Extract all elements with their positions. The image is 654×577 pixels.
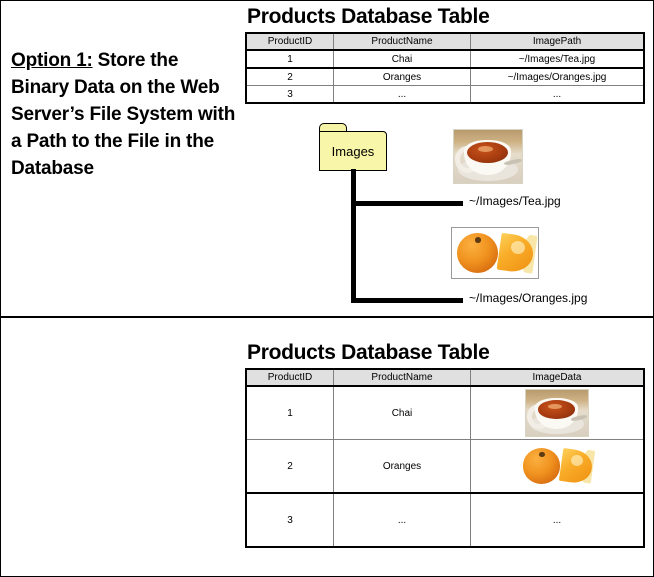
cell-imagedata <box>471 440 645 494</box>
column-header-productname: ProductName <box>334 369 471 386</box>
cell-imagepath: ~/Images/Oranges.jpg <box>471 68 645 86</box>
option2-panel: Products Database Table ProductID Produc… <box>1 316 653 576</box>
cell-productname: Chai <box>334 50 471 68</box>
cell-productname: Oranges <box>334 68 471 86</box>
cell-productid: 2 <box>246 68 334 86</box>
table-header-row: ProductID ProductName ImageData <box>246 369 644 386</box>
option1-table-title: Products Database Table <box>247 5 643 29</box>
teacup-thumbnail <box>453 129 523 184</box>
products-table-imagedata: ProductID ProductName ImageData 1 Chai <box>245 368 645 548</box>
oranges-thumbnail <box>451 227 539 279</box>
file-path-label: ~/Images/Oranges.jpg <box>469 291 587 305</box>
folder-label: Images <box>332 144 375 159</box>
cell-productid: 3 <box>246 493 334 547</box>
diagram-canvas: Option 1: Store the Binary Data on the W… <box>0 0 654 577</box>
cell-imagepath: ... <box>471 86 645 104</box>
option2-table-block: Products Database Table ProductID Produc… <box>245 341 643 548</box>
table-row: 3 ... ... <box>246 86 644 104</box>
tree-trunk-line <box>351 169 356 303</box>
folder-body: Images <box>319 131 387 171</box>
cell-productid: 1 <box>246 50 334 68</box>
oranges-image <box>452 228 538 278</box>
column-header-productname: ProductName <box>334 33 471 50</box>
option1-panel: Option 1: Store the Binary Data on the W… <box>1 1 653 316</box>
table-row: 2 Oranges <box>246 440 644 494</box>
column-header-productid: ProductID <box>246 369 334 386</box>
tea-liquid-shape <box>467 142 508 163</box>
column-header-imagedata: ImageData <box>471 369 645 386</box>
teacup-thumbnail <box>525 389 589 437</box>
option1-lead-label: Option 1: <box>11 50 93 71</box>
column-header-imagepath: ImagePath <box>471 33 645 50</box>
orange-navel-shape <box>475 237 481 243</box>
option1-caption: Option 1: Store the Binary Data on the W… <box>11 47 236 182</box>
teacup-image <box>454 130 522 183</box>
option2-table-title: Products Database Table <box>247 341 643 365</box>
oranges-thumbnail <box>518 444 596 488</box>
tree-branch-line <box>351 298 463 303</box>
table-row: 2 Oranges ~/Images/Oranges.jpg <box>246 68 644 86</box>
cell-imagepath: ~/Images/Tea.jpg <box>471 50 645 68</box>
tea-highlight-shape <box>548 404 562 409</box>
tea-liquid-shape <box>538 400 575 418</box>
cell-productname: ... <box>334 86 471 104</box>
orange-navel-shape <box>539 452 544 457</box>
oranges-image <box>518 444 596 488</box>
table-row: 3 ... ... <box>246 493 644 547</box>
cell-productid: 2 <box>246 440 334 494</box>
filesystem-tree: Images ~/Images/Tea.jpg <box>301 119 641 309</box>
cell-productid: 3 <box>246 86 334 104</box>
tea-highlight-shape <box>478 146 493 152</box>
file-path-label: ~/Images/Tea.jpg <box>469 194 561 208</box>
cell-productname: Chai <box>334 386 471 440</box>
cell-productid: 1 <box>246 386 334 440</box>
tree-branch-line <box>351 201 463 206</box>
cell-imagedata: ... <box>471 493 645 547</box>
folder-icon: Images <box>319 123 387 171</box>
products-table-imagepath: ProductID ProductName ImagePath 1 Chai ~… <box>245 32 645 104</box>
table-header-row: ProductID ProductName ImagePath <box>246 33 644 50</box>
table-row: 1 Chai <box>246 386 644 440</box>
cell-imagedata <box>471 386 645 440</box>
teacup-image <box>526 390 588 436</box>
option1-table-block: Products Database Table ProductID Produc… <box>245 5 643 104</box>
column-header-productid: ProductID <box>246 33 334 50</box>
cell-productname: ... <box>334 493 471 547</box>
table-row: 1 Chai ~/Images/Tea.jpg <box>246 50 644 68</box>
cell-productname: Oranges <box>334 440 471 494</box>
